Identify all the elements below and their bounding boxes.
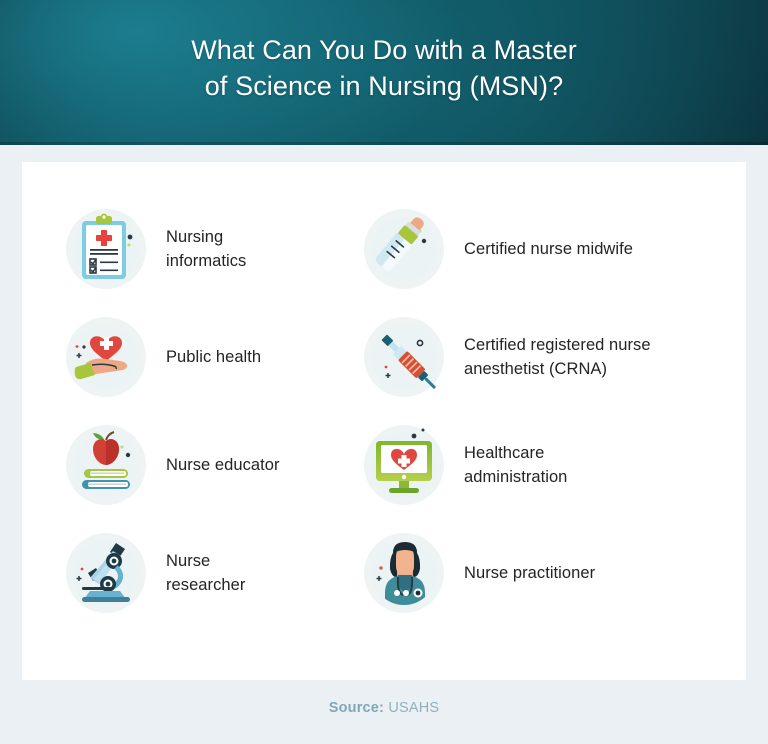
- list-item[interactable]: Certified nurse midwife: [358, 195, 708, 303]
- syringe-icon: [358, 311, 450, 403]
- page-title: What Can You Do with a Master of Science…: [0, 0, 768, 104]
- list-item-label: Certified registered nurse anesthetist (…: [464, 333, 651, 381]
- list-item[interactable]: Certified registered nurse anesthetist (…: [358, 303, 708, 411]
- header-banner: What Can You Do with a Master of Science…: [0, 0, 768, 145]
- list-item[interactable]: Nursing informatics: [60, 195, 358, 303]
- apple-books-icon: [60, 419, 152, 511]
- baby-bottle-icon: [358, 203, 450, 295]
- clipboard-medical-icon: [60, 203, 152, 295]
- list-item-label: Nursing informatics: [166, 225, 246, 273]
- microscope-icon: [60, 527, 152, 619]
- list-item[interactable]: Nurse practitioner: [358, 519, 708, 627]
- page-title-line-1: What Can You Do with a Master: [191, 35, 577, 65]
- list-item-label: Nurse researcher: [166, 549, 245, 597]
- hand-heart-icon: [60, 311, 152, 403]
- content-card: Nursing informatics: [22, 162, 746, 680]
- list-item-label: Healthcare administration: [464, 441, 567, 489]
- list-item-label: Nurse practitioner: [464, 561, 595, 585]
- list-item-label: Nurse educator: [166, 453, 280, 477]
- list-item-label: Certified nurse midwife: [464, 237, 633, 261]
- nurse-avatar-icon: [358, 527, 450, 619]
- source-value: USAHS: [388, 700, 439, 716]
- page-title-line-2: of Science in Nursing (MSN)?: [0, 68, 768, 104]
- list-item[interactable]: Nurse researcher: [60, 519, 358, 627]
- career-list: Nursing informatics: [60, 195, 708, 627]
- source-credit: Source: USAHS: [0, 700, 768, 716]
- list-item[interactable]: Healthcare administration: [358, 411, 708, 519]
- monitor-heart-icon: [358, 419, 450, 511]
- list-item[interactable]: Nurse educator: [60, 411, 358, 519]
- list-item[interactable]: Public health: [60, 303, 358, 411]
- source-label: Source:: [329, 700, 384, 716]
- list-item-label: Public health: [166, 345, 261, 369]
